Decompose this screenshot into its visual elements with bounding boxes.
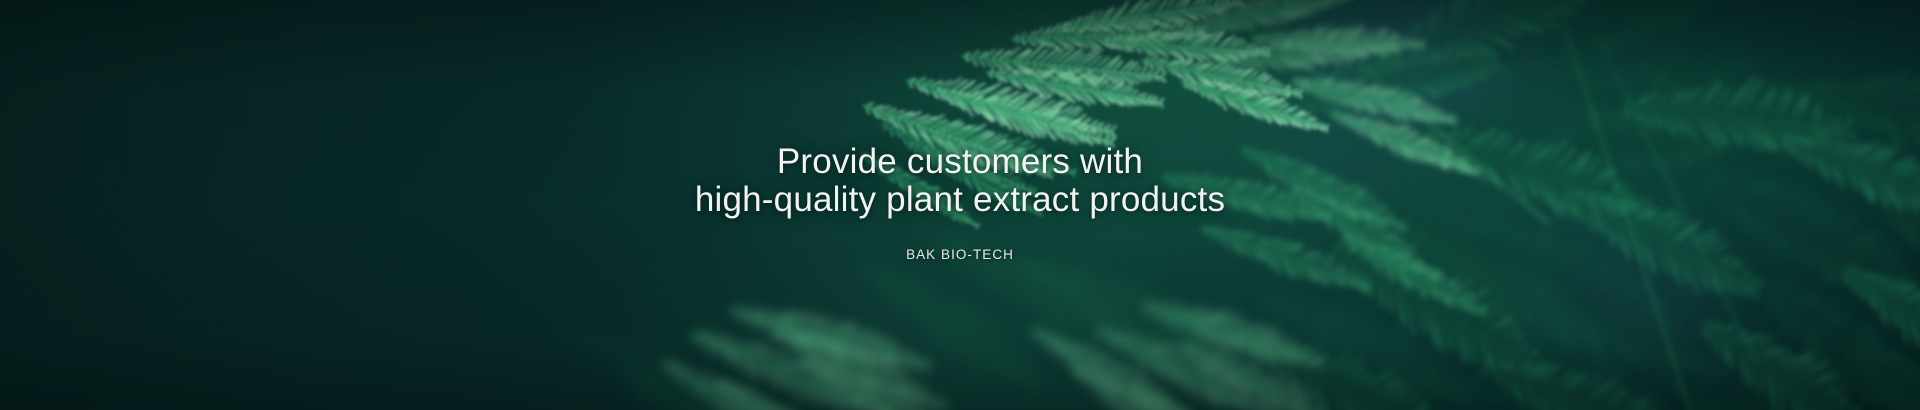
foliage-frond — [699, 357, 881, 410]
foliage-frond — [1464, 323, 1701, 410]
foliage-frond — [1130, 276, 1330, 394]
foliage-frond — [605, 343, 824, 410]
foliage-frond — [1344, 0, 1621, 113]
foliage-frond — [758, 303, 956, 410]
foliage-frond — [1207, 17, 1397, 92]
foliage-frond — [1413, 0, 1734, 128]
foliage-frond — [1823, 309, 1920, 410]
foliage-frond — [787, 335, 968, 410]
foliage-frond — [957, 26, 1167, 107]
foliage-frond — [677, 302, 902, 410]
foliage-frond — [1244, 264, 1482, 410]
foliage-frond — [721, 279, 936, 397]
foliage-frond — [1174, 0, 1361, 57]
foliage-frond — [1262, 21, 1504, 148]
foliage-frond — [1135, 35, 1307, 120]
hero-banner: Provide customers with high-quality plan… — [0, 0, 1920, 410]
foliage-frond — [1249, 12, 1426, 72]
foliage-frond — [1231, 304, 1467, 410]
foliage-frond — [1172, 57, 1335, 152]
foliage-frond — [1161, 315, 1347, 410]
foliage-frond — [1421, 260, 1737, 410]
foliage-frond — [1009, 3, 1206, 68]
foliage-frond — [1677, 287, 1890, 410]
foliage-frond — [1054, 0, 1245, 56]
foliage-frond — [1109, 361, 1279, 410]
foliage-frond — [1306, 206, 1571, 410]
foliage-frond — [1053, 341, 1240, 410]
foliage-frond — [548, 303, 725, 410]
foliage-frond — [1670, 364, 1901, 410]
foliage-frond — [980, 44, 1167, 130]
foliage-frond — [1615, 306, 1886, 410]
foliage-frond — [1381, 195, 1627, 381]
headline-line-2: high-quality plant extract products — [0, 181, 1920, 219]
subline-wrapper: BAK BIO-TECH — [0, 247, 1920, 262]
headline-line-1: Provide customers with — [0, 143, 1920, 181]
foliage-frond — [645, 334, 845, 410]
foliage-frond — [1016, 304, 1201, 410]
foliage-frond — [1284, 55, 1462, 147]
foliage-frond — [1328, 213, 1498, 336]
foliage-frond — [1542, 363, 1812, 410]
page-title: Provide customers with high-quality plan… — [0, 143, 1920, 219]
foliage-frond — [1728, 242, 1920, 410]
headline-wrapper: Provide customers with high-quality plan… — [0, 143, 1920, 219]
foliage-frond — [1363, 333, 1664, 410]
brand-subtitle: BAK BIO-TECH — [0, 247, 1920, 262]
foliage-frond — [1098, 14, 1271, 80]
foliage-frond — [922, 204, 1170, 384]
foliage-frond — [1081, 299, 1289, 410]
